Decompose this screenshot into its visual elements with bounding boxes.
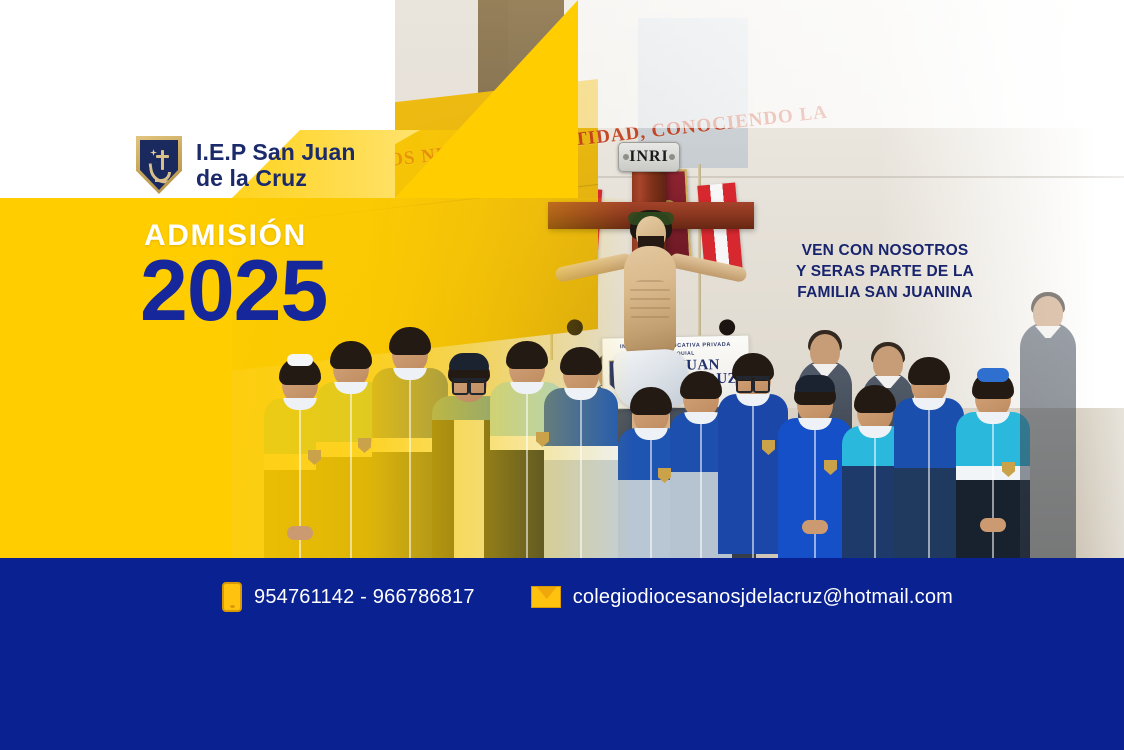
tracksuit-zip: [814, 418, 816, 558]
white-top-right-overlay: [578, 0, 1124, 128]
contact-row: 954761142 - 966786817 colegiodiocesanosj…: [222, 582, 953, 612]
tracksuit-zip: [874, 426, 876, 558]
email-contact[interactable]: colegiodiocesanosjdelacruz@hotmail.com: [531, 586, 953, 609]
phone-numbers: 954761142 - 966786817: [254, 586, 475, 609]
student-hair: [854, 385, 896, 413]
glasses-icon: [736, 376, 770, 387]
shield-inner: [140, 140, 178, 190]
email-address: colegiodiocesanosjdelacruz@hotmail.com: [573, 586, 953, 609]
christ-ribs: [630, 280, 670, 324]
tracksuit-zip: [928, 398, 930, 558]
student-tracksuit: [778, 418, 852, 558]
student-hands: [980, 518, 1006, 532]
student-head: [810, 334, 840, 368]
student-foreground: [956, 376, 1030, 558]
glasses-icon: [452, 378, 486, 389]
student-hair: [630, 387, 672, 415]
student-tracksuit: [956, 412, 1030, 558]
tracksuit-zip: [992, 412, 994, 558]
student-hands: [802, 520, 828, 534]
christ-right-hand: [718, 318, 737, 337]
envelope-icon: [531, 586, 561, 608]
student-hair-bow: [977, 368, 1009, 382]
shield-swoop-2: [155, 172, 171, 182]
student-hands: [287, 526, 313, 540]
slogan-text: VEN CON NOSOTROS Y SERAS PARTE DE LA FAM…: [780, 240, 990, 303]
student-cap: [449, 353, 489, 370]
institution-name: I.E.P San Juan de la Cruz: [196, 139, 355, 191]
student-hair-bow: [287, 354, 313, 366]
inri-plaque: INRI: [618, 142, 680, 172]
tracksuit-zip: [700, 412, 702, 558]
christ-right-arm: [668, 252, 747, 283]
phone-icon: [222, 582, 242, 612]
admission-year: 2025: [140, 248, 327, 334]
tracksuit-zip: [650, 428, 652, 558]
brand-lockup: I.E.P San Juan de la Cruz: [136, 136, 355, 194]
cross-horizontal-icon: [156, 155, 169, 158]
student-hair: [908, 357, 950, 385]
student-hair: [680, 371, 722, 399]
tracksuit-zip: [409, 368, 411, 558]
school-shield-icon: [136, 136, 182, 194]
student-head: [1033, 296, 1063, 330]
student-foreground: [778, 382, 852, 558]
background-student: [1020, 322, 1076, 558]
student-collar: [1035, 326, 1061, 338]
student-cap: [795, 375, 835, 392]
tracksuit-zip: [580, 388, 582, 558]
student-tracksuit: [894, 398, 964, 558]
tracksuit-zip: [526, 382, 528, 558]
student-foreground: [894, 362, 964, 558]
phone-contact[interactable]: 954761142 - 966786817: [222, 582, 475, 612]
contact-footer: 954761142 - 966786817 colegiodiocesanosj…: [0, 558, 1124, 750]
tracksuit-zip: [350, 382, 352, 558]
admission-poster: BIERTA 71499 mail.com sidad.com.pe/ei: [0, 0, 1124, 750]
tracksuit-zip: [752, 394, 754, 558]
